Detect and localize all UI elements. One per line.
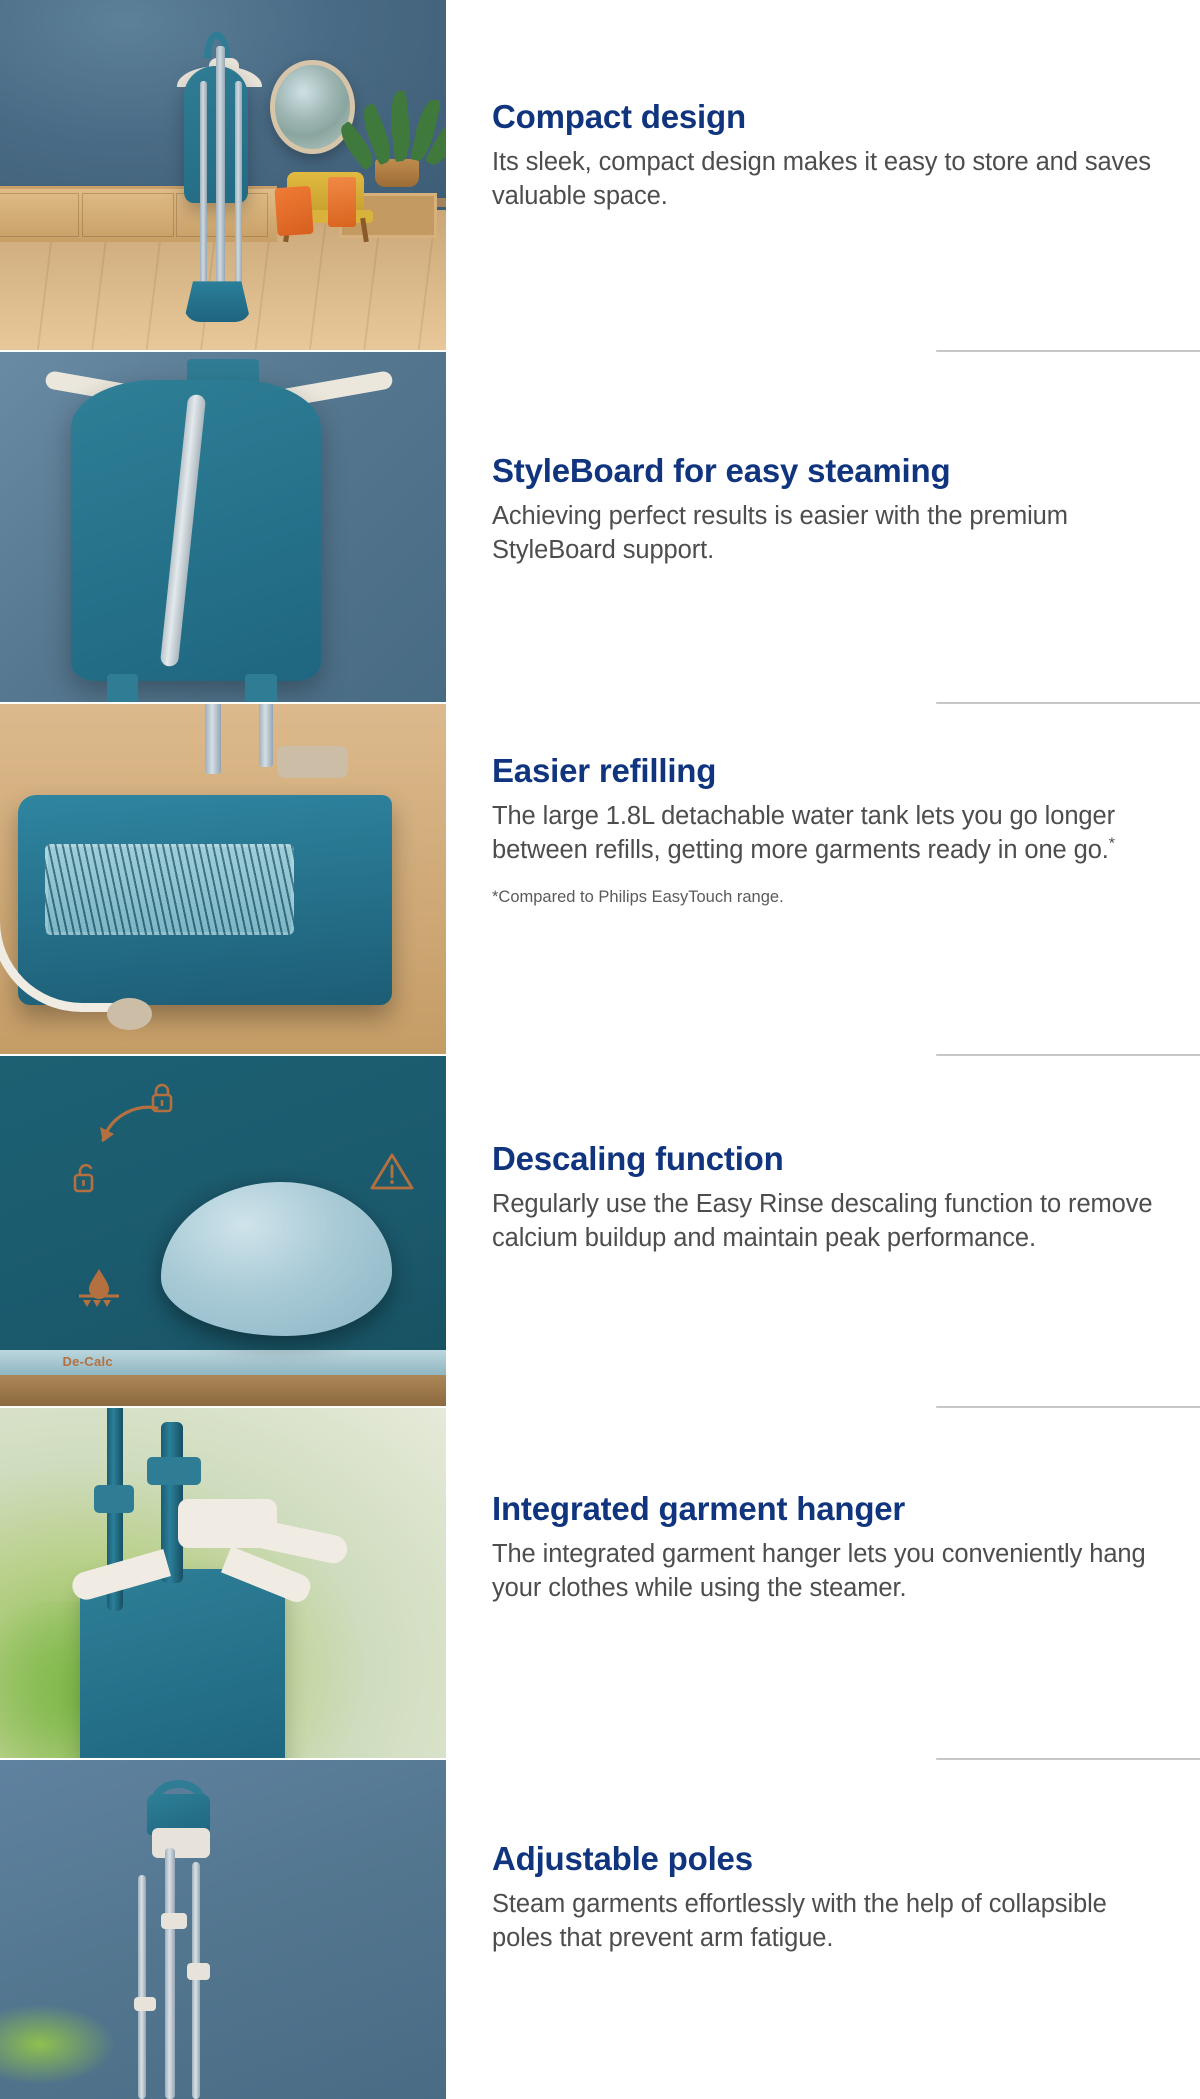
footnote-marker: * bbox=[1109, 835, 1115, 852]
feature-heading: Integrated garment hanger bbox=[492, 1490, 1156, 1529]
mirror-decor bbox=[270, 60, 355, 155]
feature-block-adjustable-poles: Adjustable poles Steam garments effortle… bbox=[446, 1840, 1200, 1955]
section-divider bbox=[936, 1054, 1200, 1056]
section-divider bbox=[936, 702, 1200, 704]
feature-body: Steam garments effortlessly with the hel… bbox=[492, 1888, 1156, 1955]
feature-block-garment-hanger: Integrated garment hanger The integrated… bbox=[446, 1490, 1200, 1605]
warning-triangle-icon bbox=[370, 1151, 414, 1191]
feature-body-text: The large 1.8L detachable water tank let… bbox=[492, 802, 1115, 864]
descale-droplet-icon bbox=[71, 1266, 127, 1310]
lock-open-icon bbox=[71, 1161, 101, 1195]
feature-body: The integrated garment hanger lets you c… bbox=[492, 1538, 1156, 1605]
feature-heading: StyleBoard for easy steaming bbox=[492, 452, 1156, 491]
feature-text-column: Compact design Its sleek, compact design… bbox=[446, 0, 1200, 2099]
feature-block-easier-refilling: Easier refilling The large 1.8L detachab… bbox=[446, 752, 1200, 909]
feature-image-water-tank bbox=[0, 704, 446, 1054]
feature-block-compact-design: Compact design Its sleek, compact design… bbox=[446, 98, 1200, 213]
steamer-product bbox=[165, 32, 281, 323]
feature-block-descaling: Descaling function Regularly use the Eas… bbox=[446, 1140, 1200, 1255]
feature-body: The large 1.8L detachable water tank let… bbox=[492, 800, 1156, 867]
feature-image-compact-design bbox=[0, 0, 446, 350]
feature-heading: Descaling function bbox=[492, 1140, 1156, 1179]
section-divider bbox=[936, 1758, 1200, 1760]
feature-heading: Compact design bbox=[492, 98, 1156, 137]
image-column: De-Calc bbox=[0, 0, 446, 2099]
decalc-label: De-Calc bbox=[62, 1354, 113, 1369]
rotate-arrow-icon bbox=[89, 1098, 163, 1158]
feature-heading: Easier refilling bbox=[492, 752, 1156, 791]
feature-image-descaling: De-Calc bbox=[0, 1056, 446, 1406]
feature-body: Achieving perfect results is easier with… bbox=[492, 500, 1156, 567]
feature-footnote: *Compared to Philips EasyTouch range. bbox=[492, 887, 1156, 908]
feature-image-styleboard bbox=[0, 352, 446, 702]
feature-image-adjustable-poles bbox=[0, 1760, 446, 2099]
armchair-decor bbox=[272, 172, 379, 242]
feature-body: Regularly use the Easy Rinse descaling f… bbox=[492, 1188, 1156, 1255]
section-divider bbox=[936, 1406, 1200, 1408]
section-divider bbox=[936, 350, 1200, 352]
feature-body: Its sleek, compact design makes it easy … bbox=[492, 146, 1156, 213]
feature-heading: Adjustable poles bbox=[492, 1840, 1156, 1879]
feature-image-garment-hanger bbox=[0, 1408, 446, 1758]
feature-list-page: De-Calc bbox=[0, 0, 1200, 2099]
feature-block-styleboard: StyleBoard for easy steaming Achieving p… bbox=[446, 452, 1200, 567]
